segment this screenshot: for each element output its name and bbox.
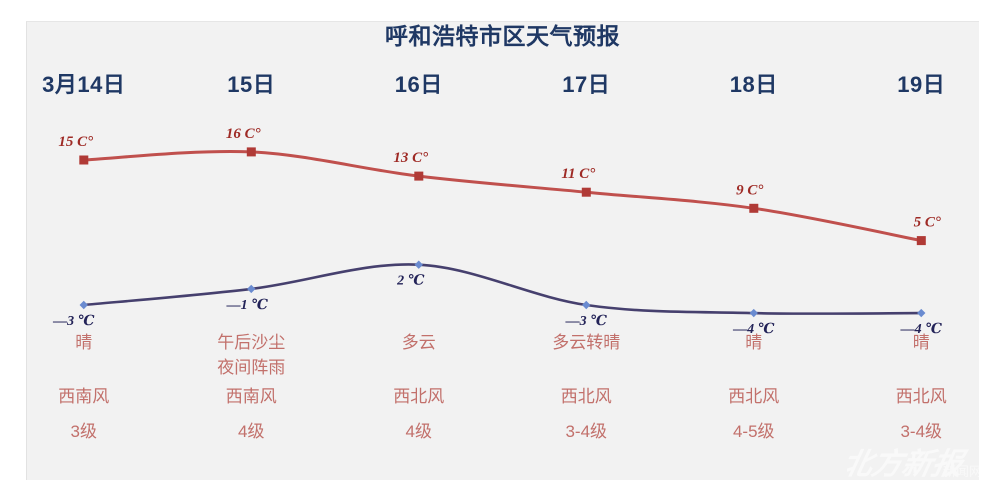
date-header-4: 18日 [670,67,838,99]
condition-text: 晴 [670,330,838,355]
condition-text: 晴 [0,330,168,355]
wind-direction-row: 西南风 西南风 西北风 西北风 西北风 西北风 [0,382,1005,407]
wind-level-4: 4-5级 [670,417,838,442]
wind-level-5: 3-4级 [838,417,1005,442]
condition-text-secondary: 夜间阵雨 [168,355,336,380]
date-header-5: 19日 [838,67,1005,99]
condition-row: 晴 午后沙尘 夜间阵雨 多云 多云转晴 晴 晴 [0,330,1005,380]
wind-level-3: 3-4级 [503,417,671,442]
condition-cell-5: 晴 [838,330,1005,380]
chart-title: 呼和浩特市区天气预报 [0,17,1005,51]
condition-cell-3: 多云转晴 [503,330,671,380]
wind-direction-0: 西南风 [0,382,168,407]
date-header-row: 3月14日 15日 16日 17日 18日 19日 [0,67,1005,99]
condition-text: 多云 [335,330,503,355]
wind-level-row: 3级 4级 4级 3-4级 4-5级 3-4级 [0,417,1005,442]
date-header-0: 3月14日 [0,67,168,99]
condition-cell-4: 晴 [670,330,838,380]
wind-level-1: 4级 [168,417,336,442]
condition-text: 晴 [838,330,1005,355]
wind-level-2: 4级 [335,417,503,442]
condition-text: 午后沙尘 [168,330,336,355]
condition-cell-0: 晴 [0,330,168,380]
wind-direction-2: 西北风 [335,382,503,407]
date-header-2: 16日 [335,67,503,99]
wind-direction-3: 西北风 [503,382,671,407]
date-header-1: 15日 [168,67,336,99]
wind-level-0: 3级 [0,417,168,442]
date-header-3: 17日 [503,67,671,99]
condition-text: 多云转晴 [503,330,671,355]
weather-forecast-chart: 呼和浩特市区天气预报 3月14日 15日 16日 17日 18日 19日 15 … [0,0,1005,500]
wind-direction-1: 西南风 [168,382,336,407]
wind-direction-5: 西北风 [838,382,1005,407]
wind-direction-4: 西北风 [670,382,838,407]
condition-cell-2: 多云 [335,330,503,380]
condition-cell-1: 午后沙尘 夜间阵雨 [168,330,336,380]
